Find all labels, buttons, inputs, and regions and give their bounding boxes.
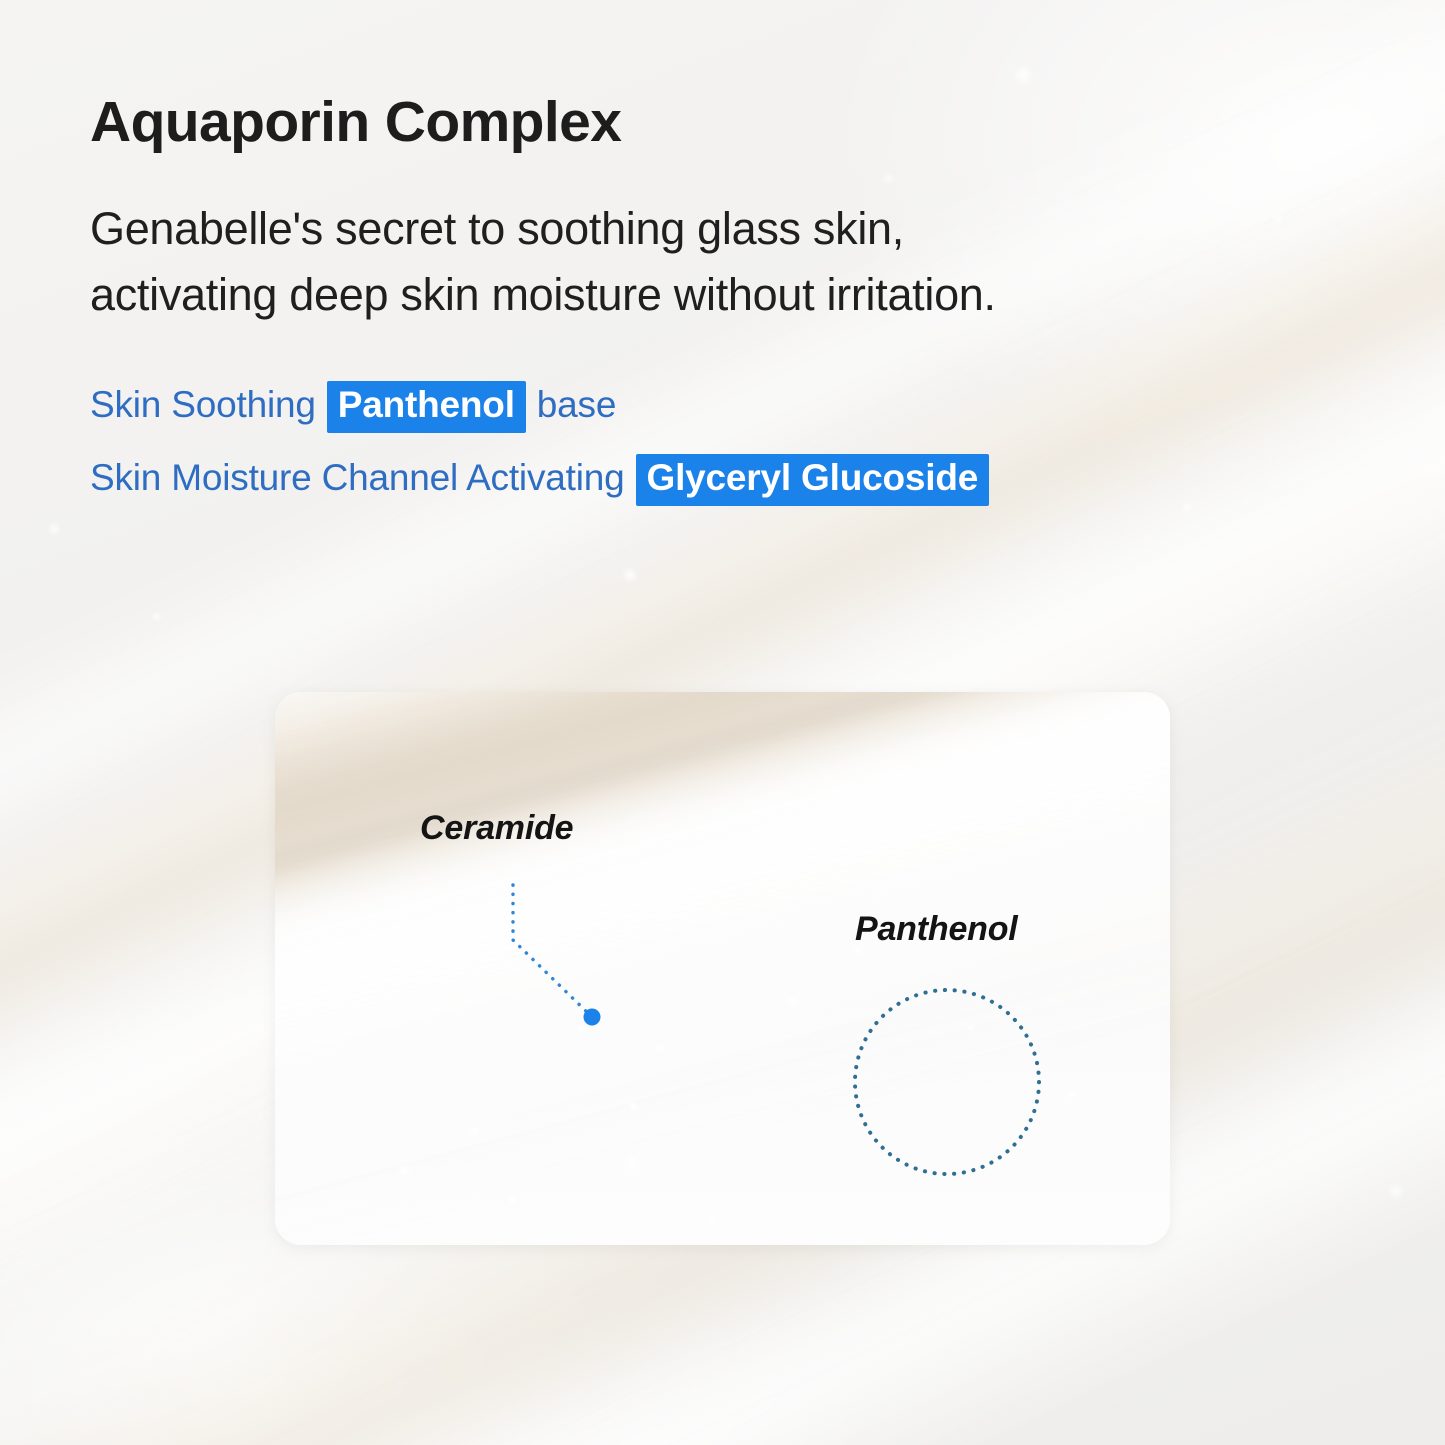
callout-label-panthenol: Panthenol — [855, 910, 1018, 949]
ingredient-photo-card: Ceramide Panthenol — [275, 692, 1170, 1245]
page-title: Aquaporin Complex — [90, 93, 621, 153]
callout-label-ceramide: Ceramide — [420, 809, 573, 848]
page-subtitle-line-2: activating deep skin moisture without ir… — [90, 262, 996, 328]
product-feature-panel: Aquaporin Complex Genabelle's secret to … — [0, 0, 1445, 1445]
feature-prefix: Skin Moisture Channel Activating — [90, 457, 625, 499]
page-subtitle-line-1: Genabelle's secret to soothing glass ski… — [90, 196, 996, 262]
feature-suffix: base — [537, 384, 616, 426]
feature-highlight-panthenol: Panthenol — [327, 381, 526, 433]
feature-row-panthenol: Skin Soothing Panthenol base — [90, 381, 989, 433]
feature-row-glyceryl-glucoside: Skin Moisture Channel Activating Glycery… — [90, 454, 989, 506]
cream-texture-photo — [275, 692, 1170, 1245]
feature-prefix: Skin Soothing — [90, 384, 316, 426]
feature-highlight-glyceryl-glucoside: Glyceryl Glucoside — [636, 454, 990, 506]
page-subtitle: Genabelle's secret to soothing glass ski… — [90, 196, 996, 328]
feature-list: Skin Soothing Panthenol base Skin Moistu… — [90, 381, 989, 506]
